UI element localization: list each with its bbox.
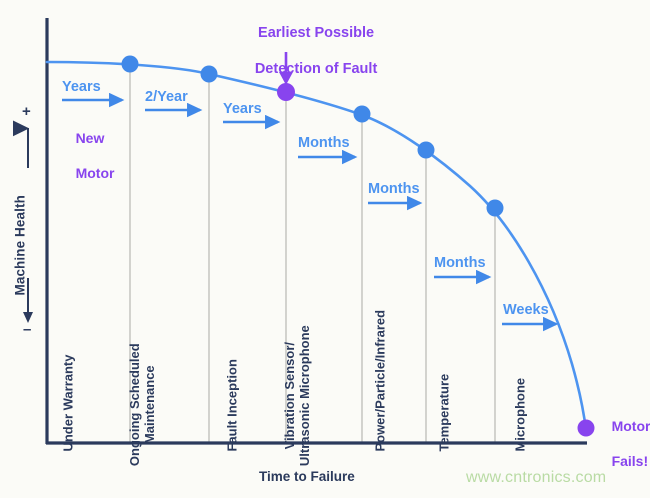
stage-label-temperature: Temperature <box>437 374 452 452</box>
new-motor-callout: New Motor <box>60 112 130 200</box>
stage-label-under-warranty: Under Warranty <box>61 355 76 452</box>
marker-power-detect <box>418 142 435 159</box>
interval-label-2peryear: 2/Year <box>145 90 188 106</box>
stage-label-microphone: Microphone <box>513 378 528 452</box>
stage-label-fault-inception: Fault Inception <box>225 359 240 451</box>
earliest-detection-line-1: Earliest Possible <box>258 25 374 41</box>
interval-label-weeks: Weeks <box>503 303 549 319</box>
y-axis-title: Machine Health <box>14 145 29 345</box>
new-motor-line-1: New <box>76 130 105 146</box>
stage-label-power-particle-infrared: Power/Particle/Infrared <box>373 310 388 452</box>
motor-fails-callout: Motor Fails! <box>596 400 650 488</box>
interval-label-years-2: Years <box>223 102 262 118</box>
interval-label-months-1: Months <box>298 136 350 152</box>
marker-temperature-detect <box>487 200 504 217</box>
interval-arrows <box>62 100 556 324</box>
interval-label-months-2: Months <box>368 182 420 198</box>
motor-fails-line-1: Motor <box>612 418 650 434</box>
y-axis-negative-symbol: – <box>23 322 31 338</box>
y-axis-positive-symbol: + <box>22 104 31 120</box>
marker-vibration-detect <box>354 106 371 123</box>
marker-maintenance-end <box>201 66 218 83</box>
earliest-detection-line-2: Detection of Fault <box>255 61 377 77</box>
interval-label-months-3: Months <box>434 256 486 272</box>
stage-label-ongoing-maintenance: Ongoing ScheduledMaintenance <box>128 343 157 466</box>
new-motor-line-2: Motor <box>76 165 115 181</box>
interval-label-years-1: Years <box>62 80 101 96</box>
stage-label-vibration-ultrasonic: Vibration Sensor/Ultrasonic Microphone <box>283 325 312 466</box>
x-axis-title: Time to Failure <box>259 470 355 485</box>
earliest-detection-callout: Earliest Possible Detection of Fault <box>228 6 388 97</box>
site-watermark: www.cntronics.com <box>466 469 606 486</box>
marker-under-warranty-end <box>122 56 139 73</box>
pf-curve-diagram: Machine Health + – Time to Failure www.c… <box>0 0 650 498</box>
marker-motor-fails <box>578 420 595 437</box>
motor-fails-line-2: Fails! <box>612 453 649 469</box>
